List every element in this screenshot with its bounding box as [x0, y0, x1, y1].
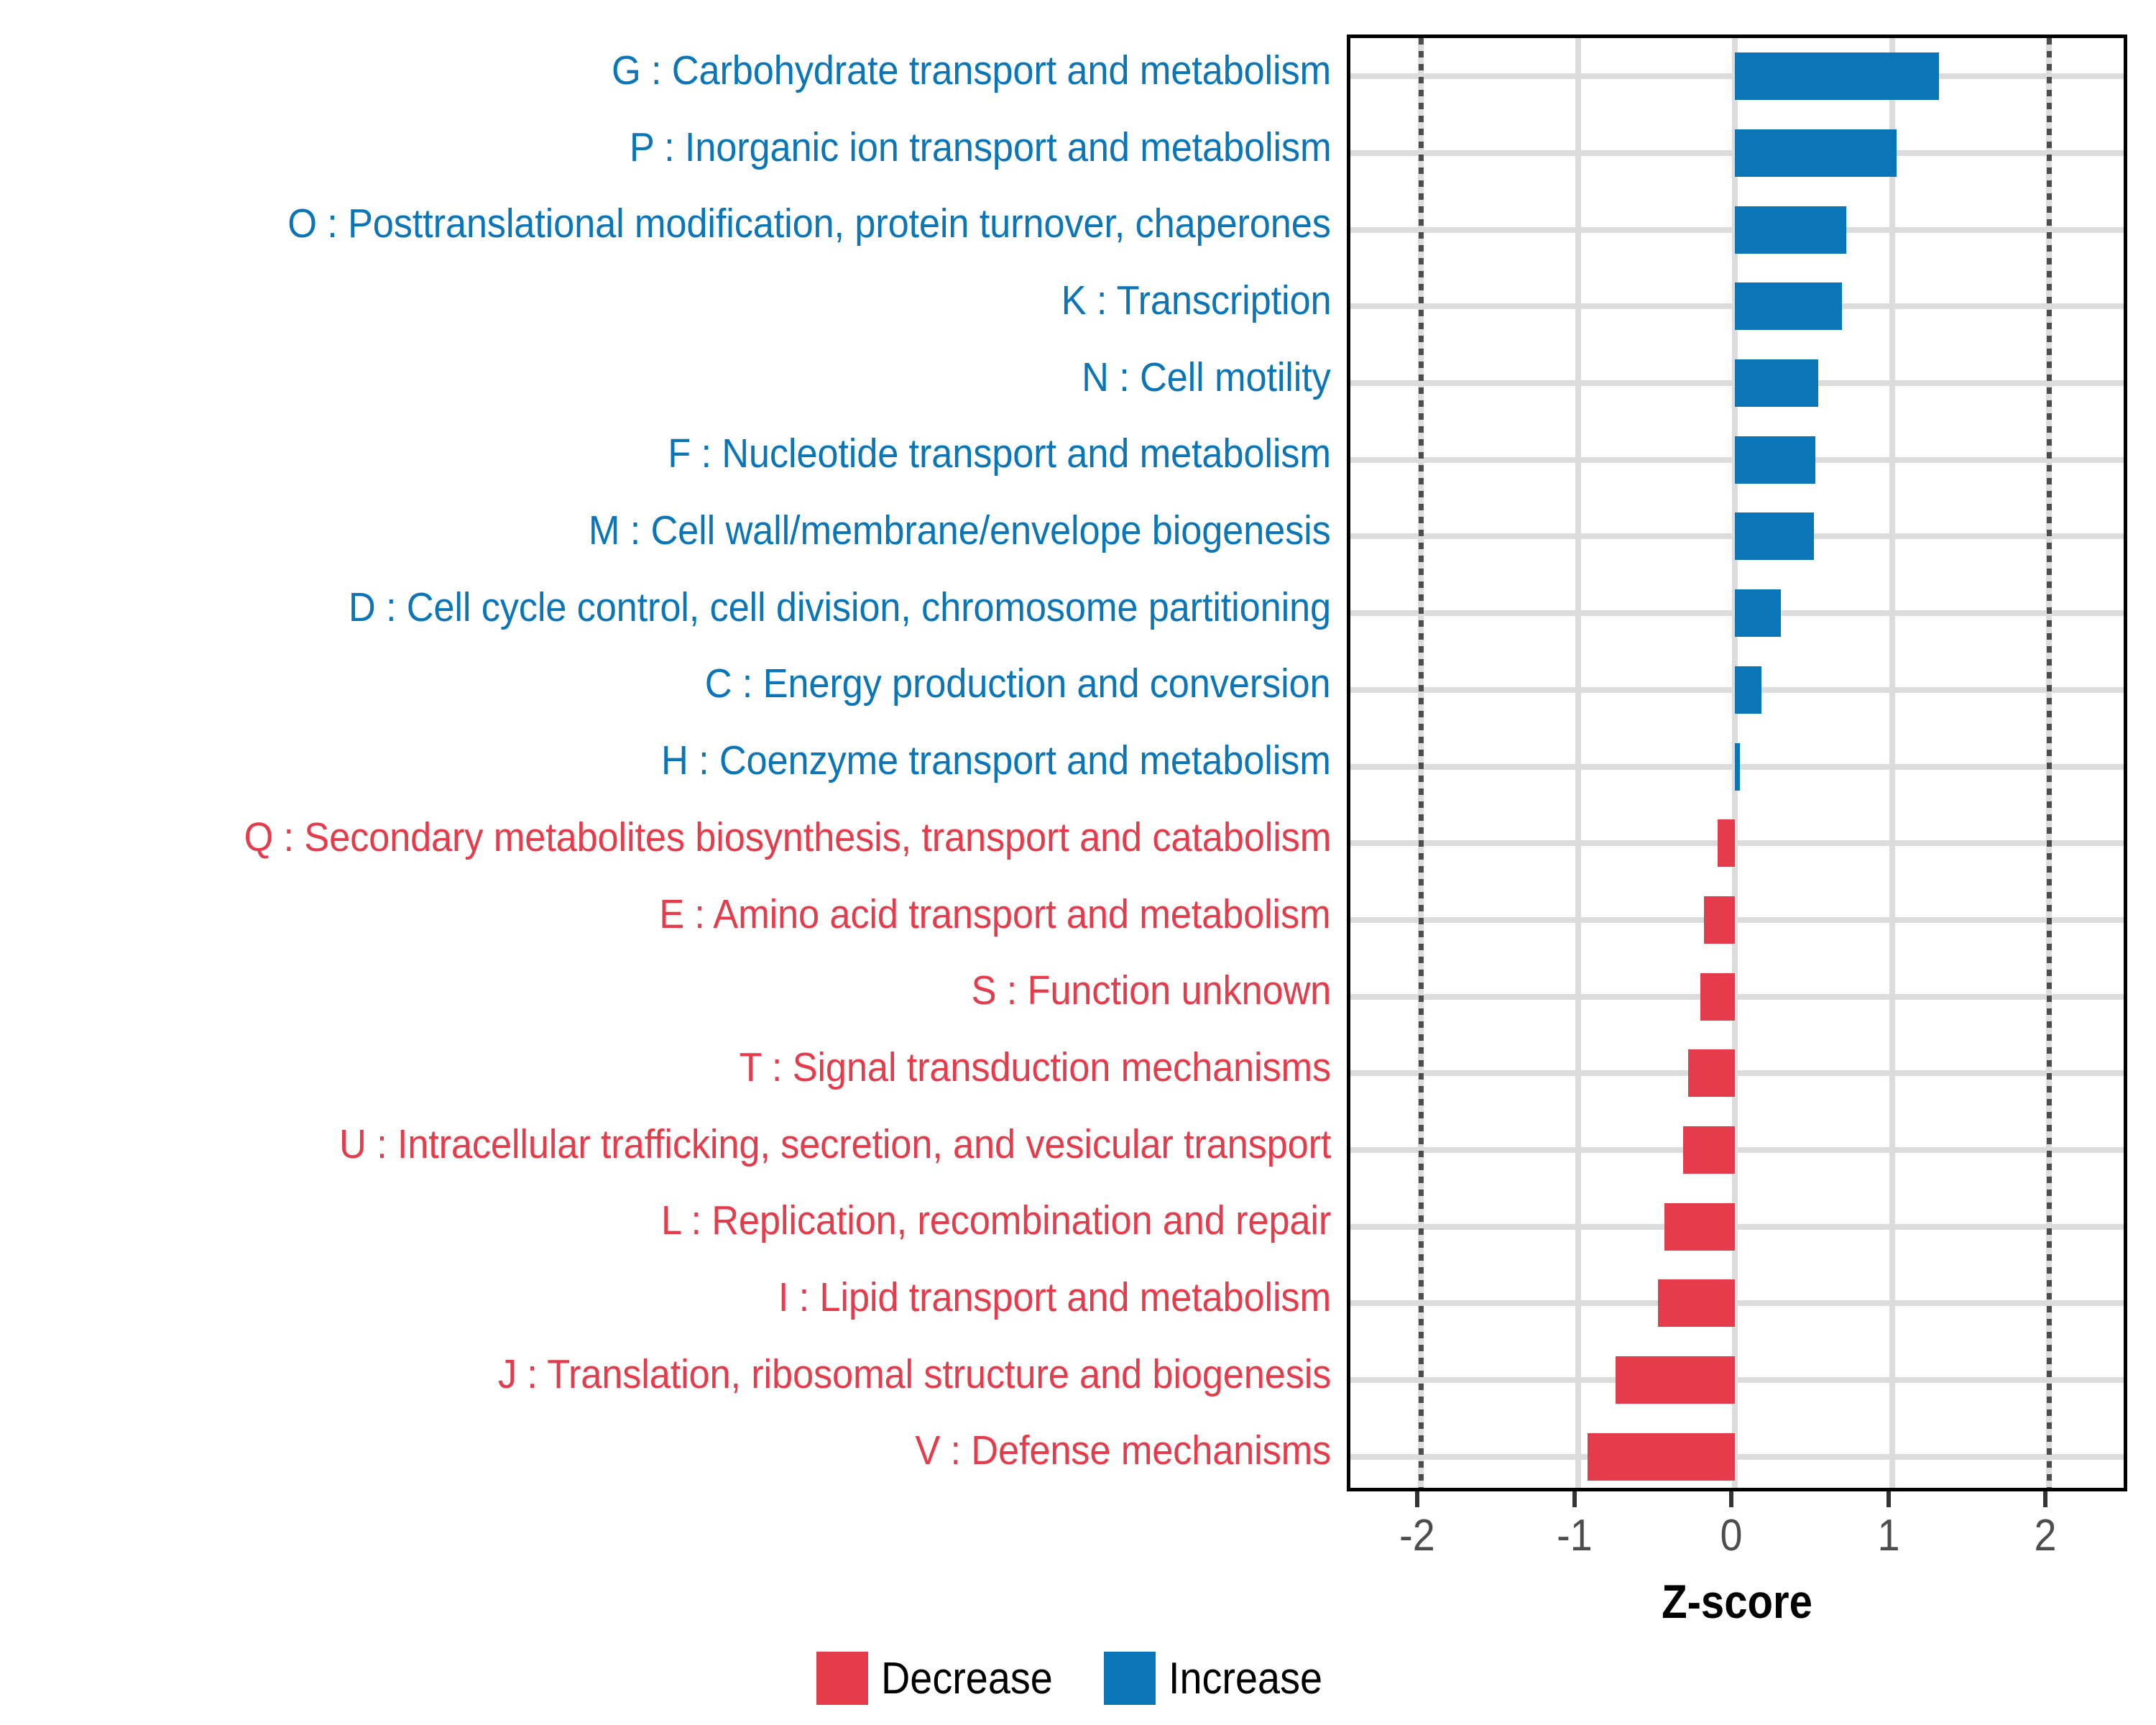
bar[interactable]	[1664, 1203, 1735, 1251]
plot-panel	[1347, 34, 2127, 1491]
category-label: G : Carbohydrate transport and metabolis…	[612, 34, 1331, 107]
bar[interactable]	[1735, 666, 1761, 714]
bar[interactable]	[1588, 1433, 1735, 1481]
category-label: J : Translation, ribosomal structure and…	[498, 1338, 1331, 1411]
category-label: T : Signal transduction mechanisms	[740, 1031, 1331, 1104]
bar[interactable]	[1735, 436, 1815, 484]
category-label: O : Posttranslational modification, prot…	[287, 188, 1331, 260]
bar[interactable]	[1735, 359, 1818, 407]
category-label: C : Energy production and conversion	[705, 648, 1331, 720]
reference-line	[2047, 38, 2052, 1488]
category-label: P : Inorganic ion transport and metaboli…	[629, 111, 1331, 184]
x-axis-tick	[1415, 1491, 1419, 1507]
legend-item[interactable]: Increase	[1104, 1652, 1340, 1705]
bar[interactable]	[1735, 129, 1897, 177]
x-axis-tick-label: 2	[1981, 1510, 2110, 1561]
category-label: E : Amino acid transport and metabolism	[660, 878, 1331, 951]
reference-line	[1419, 38, 1424, 1488]
x-axis-tick-label: -2	[1353, 1510, 1482, 1561]
plot-area	[1350, 38, 2124, 1488]
x-axis-tick	[1886, 1491, 1891, 1507]
x-axis-tick-label: -1	[1510, 1510, 1639, 1561]
x-axis-tick	[1572, 1491, 1577, 1507]
chart-legend: DecreaseIncrease	[0, 1646, 2156, 1711]
bar[interactable]	[1700, 973, 1735, 1021]
category-label: S : Function unknown	[971, 954, 1331, 1027]
category-label: M : Cell wall/membrane/envelope biogenes…	[589, 494, 1331, 567]
bar[interactable]	[1735, 512, 1813, 560]
bar[interactable]	[1616, 1356, 1735, 1404]
category-label: F : Nucleotide transport and metabolism	[668, 418, 1331, 490]
category-label: Q : Secondary metabolites biosynthesis, …	[244, 801, 1331, 874]
category-label: H : Coenzyme transport and metabolism	[661, 724, 1331, 797]
category-label: I : Lipid transport and metabolism	[778, 1261, 1331, 1334]
x-axis-tick	[1729, 1491, 1733, 1507]
legend-swatch	[816, 1652, 868, 1705]
category-label: V : Defense mechanisms	[915, 1414, 1331, 1487]
category-label: N : Cell motility	[1082, 341, 1331, 414]
bar[interactable]	[1735, 206, 1846, 254]
x-axis-tick-label: 1	[1824, 1510, 1953, 1561]
category-label: U : Intracellular trafficking, secretion…	[339, 1108, 1331, 1181]
bar[interactable]	[1718, 819, 1735, 867]
category-label: D : Cell cycle control, cell division, c…	[349, 571, 1331, 644]
category-label: K : Transcription	[1061, 264, 1331, 337]
x-axis-title: Z-score	[1393, 1574, 2081, 1629]
bar[interactable]	[1688, 1049, 1736, 1097]
bar[interactable]	[1704, 896, 1736, 944]
bar[interactable]	[1735, 282, 1842, 330]
legend-swatch	[1104, 1652, 1156, 1705]
bar[interactable]	[1683, 1126, 1735, 1174]
vertical-gridline	[1575, 38, 1581, 1488]
legend-label: Decrease	[881, 1653, 1053, 1704]
vertical-gridline	[1889, 38, 1895, 1488]
bar[interactable]	[1658, 1279, 1735, 1327]
bar[interactable]	[1735, 52, 1939, 100]
category-label: L : Replication, recombination and repai…	[661, 1184, 1331, 1257]
bar[interactable]	[1735, 589, 1780, 637]
x-axis-tick	[2043, 1491, 2047, 1507]
category-axis-labels: G : Carbohydrate transport and metabolis…	[0, 34, 1347, 1491]
x-axis-tick-label: 0	[1667, 1510, 1796, 1561]
legend-label: Increase	[1169, 1653, 1322, 1704]
chart-root: G : Carbohydrate transport and metabolis…	[0, 0, 2156, 1725]
bar[interactable]	[1735, 743, 1740, 791]
legend-item[interactable]: Decrease	[816, 1652, 1072, 1705]
